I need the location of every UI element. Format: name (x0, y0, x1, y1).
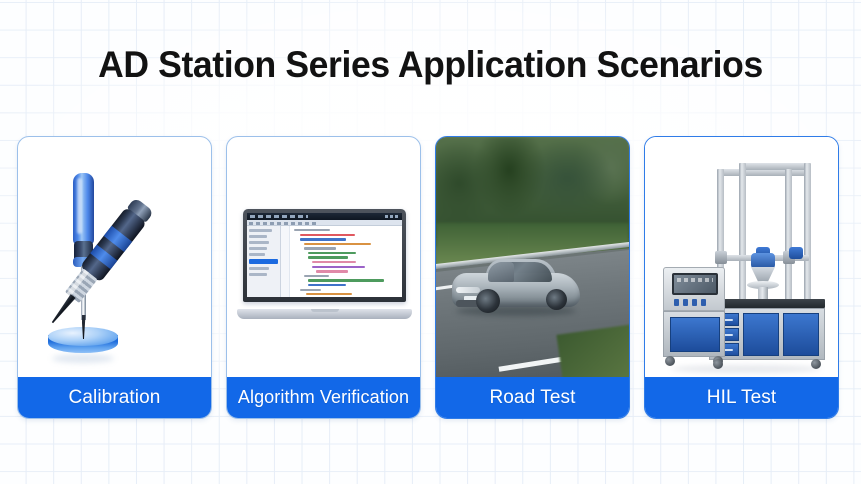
actuator-head (751, 253, 775, 269)
laptop-lid (243, 209, 406, 302)
bench-cabinet-right (709, 308, 825, 360)
hil-test-bench (661, 159, 825, 369)
ide-toolbar (247, 220, 402, 226)
card-label-hil-test: HIL Test (645, 377, 838, 418)
card-label-algorithm-verification: Algorithm Verification (227, 377, 420, 418)
ide-file-sidebar (247, 226, 281, 297)
ide-line-number-gutter (281, 226, 290, 297)
laptop-icon (227, 137, 420, 377)
screwdrivers-icon (18, 137, 211, 377)
ide-screen (247, 213, 402, 297)
scenario-card-calibration[interactable]: Calibration (17, 136, 212, 419)
control-console (663, 267, 725, 311)
ide-titlebar (247, 213, 402, 220)
calibration-illustration (18, 137, 211, 377)
scenario-card-algorithm-verification[interactable]: Algorithm Verification (226, 136, 421, 419)
card-label-calibration: Calibration (18, 377, 211, 418)
hil-bench-photo (645, 137, 838, 377)
laptop-illustration (227, 137, 420, 377)
screwdriver-angled-icon (39, 194, 158, 333)
console-cabinet (663, 311, 725, 357)
ide-code-area (290, 226, 402, 297)
console-display (672, 273, 718, 295)
laptop-base (237, 309, 412, 319)
page-title: AD Station Series Application Scenarios (17, 44, 844, 86)
scenario-card-road-test[interactable]: Road Test (435, 136, 630, 419)
scenario-card-row: Calibration (17, 136, 844, 419)
card-label-road-test: Road Test (436, 377, 629, 418)
road-test-photo (436, 137, 629, 377)
scenario-card-hil-test[interactable]: HIL Test (644, 136, 839, 419)
test-vehicle (452, 253, 580, 313)
